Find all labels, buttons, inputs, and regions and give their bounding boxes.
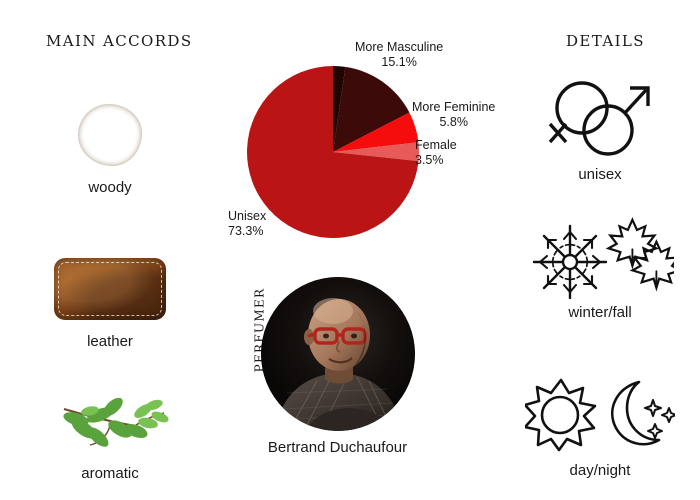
accord-item-aromatic[interactable]: aromatic <box>20 382 200 482</box>
perfumer-block: PERFUMER <box>230 277 445 456</box>
pie-label-more-feminine: More Feminine 5.8% <box>412 100 495 130</box>
perfumer-name: Bertrand Duchaufour <box>230 439 445 456</box>
pie-label-value: 3.5% <box>415 153 457 168</box>
pie-label-unisex: Unisex 73.3% <box>228 209 266 239</box>
pie-label-value: 73.3% <box>228 224 266 239</box>
accord-label: aromatic <box>20 465 200 482</box>
herb-sprig-icon <box>20 382 200 460</box>
pie-label-name: Female <box>415 138 457 152</box>
detail-item-winter-fall[interactable]: winter/fall <box>505 210 695 321</box>
snowflake-maple-leaf-icon <box>505 210 695 302</box>
accord-label: woody <box>20 179 200 196</box>
pie-label-name: Unisex <box>228 209 266 223</box>
detail-label: winter/fall <box>505 304 695 321</box>
pie-label-name: More Feminine <box>412 100 495 114</box>
poster-canvas: MAIN ACCORDS DETAILS woody leather <box>0 0 700 500</box>
pie-label-value: 5.8% <box>412 115 495 130</box>
pie-label-value: 15.1% <box>355 55 443 70</box>
sun-moon-icon <box>505 368 695 460</box>
leather-patch-icon <box>20 250 200 328</box>
main-accords-heading: MAIN ACCORDS <box>46 32 193 50</box>
portrait-illustration <box>261 277 415 431</box>
detail-label: unisex <box>505 166 695 183</box>
accord-item-leather[interactable]: leather <box>20 250 200 350</box>
detail-item-day-night[interactable]: day/night <box>505 368 695 479</box>
venus-mars-icon <box>505 72 695 164</box>
wood-slice-icon <box>20 96 200 174</box>
detail-item-unisex[interactable]: unisex <box>505 72 695 183</box>
perfumer-portrait[interactable] <box>261 277 415 431</box>
pie-label-name: More Masculine <box>355 40 443 54</box>
details-heading: DETAILS <box>566 32 645 50</box>
accord-label: leather <box>20 333 200 350</box>
pie-label-more-masculine: More Masculine 15.1% <box>355 40 443 70</box>
accord-item-woody[interactable]: woody <box>20 96 200 196</box>
detail-label: day/night <box>505 462 695 479</box>
pie-label-female: Female 3.5% <box>415 138 457 168</box>
